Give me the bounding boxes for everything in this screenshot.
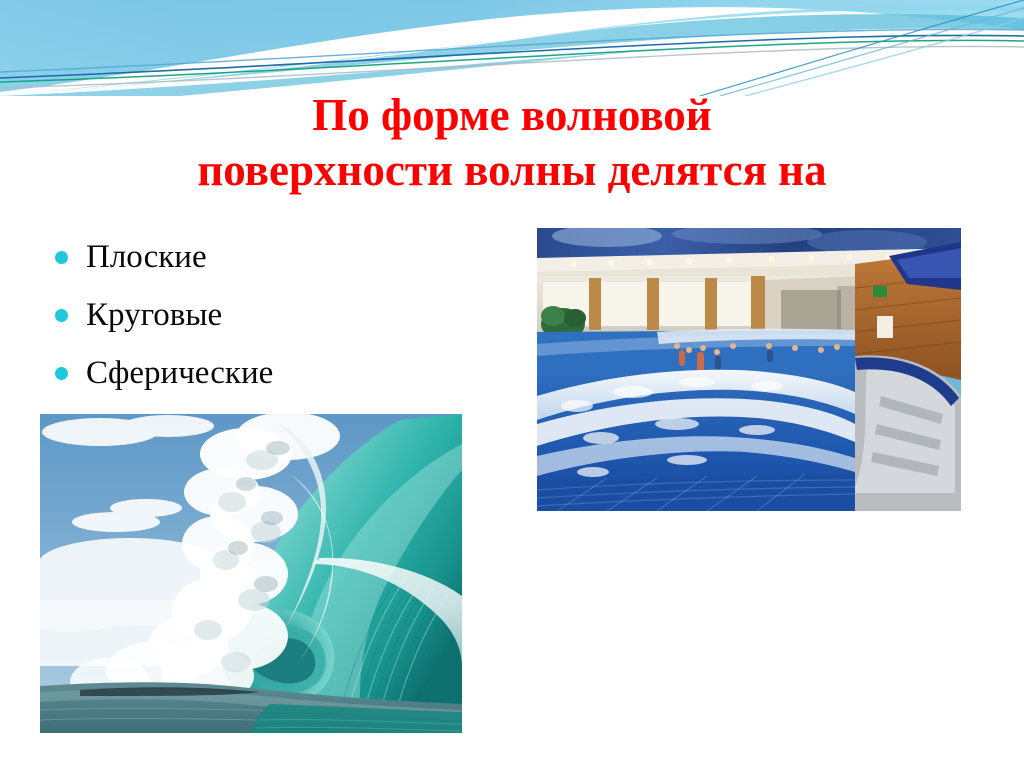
bullet-dot-icon [55,251,68,264]
ocean-wave-photo [40,414,462,733]
list-item-label: Сферические [86,355,273,391]
list-item-circular: Круговые [55,286,525,344]
slide-title: По форме волновой поверхности волны деля… [30,88,994,198]
bullet-dot-icon [55,309,68,322]
list-item-label: Круговые [86,297,222,333]
list-item-spherical: Сферические [55,344,525,402]
wave-pool-photo [537,228,961,511]
header-swoosh-decoration [0,0,1024,96]
presentation-slide: По форме волновой поверхности волны деля… [0,0,1024,767]
title-line-2: поверхности волны делятся на [30,143,994,198]
list-item-label: Плоские [86,239,207,275]
list-item-plane: Плоские [55,228,525,286]
bullet-dot-icon [55,367,68,380]
title-line-1: По форме волновой [30,88,994,143]
wave-type-list: Плоские Круговые Сферические [55,228,525,402]
